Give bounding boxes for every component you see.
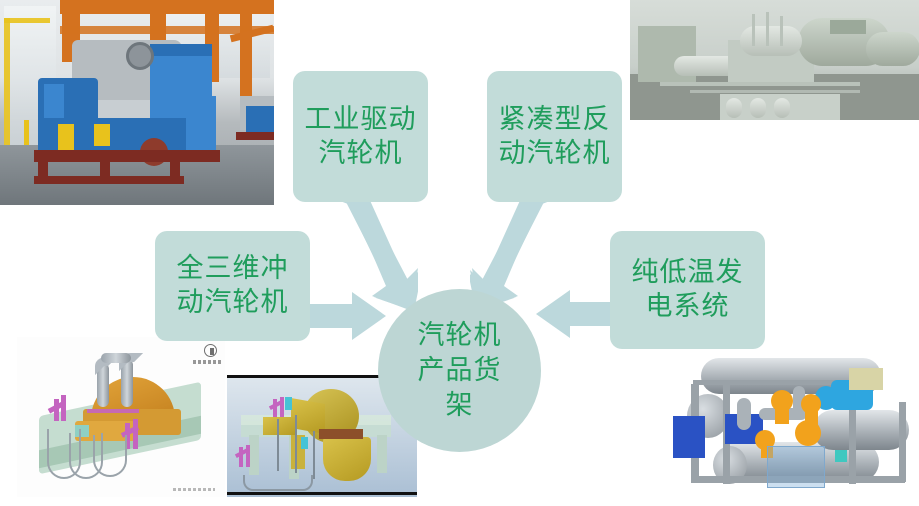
- plant-3d-render: [630, 0, 919, 120]
- cad-orange-model: [17, 337, 225, 497]
- slide-canvas: 工业驱动 汽轮机 紧凑型反 动汽轮机 全三维冲 动汽轮机 纯低温发 电系统 汽轮…: [0, 0, 919, 506]
- company-logo-icon: [204, 344, 217, 357]
- node-full-3d-impulse-turbine[interactable]: 全三维冲 动汽轮机: [155, 231, 310, 341]
- node-compact-reaction-turbine[interactable]: 紧凑型反 动汽轮机: [487, 71, 622, 202]
- node-pure-low-temp-power-system-label: 纯低温发 电系统: [632, 256, 744, 324]
- node-industrial-drive-turbine[interactable]: 工业驱动 汽轮机: [293, 71, 428, 202]
- node-pure-low-temp-power-system[interactable]: 纯低温发 电系统: [610, 231, 765, 349]
- node-industrial-drive-turbine-label: 工业驱动 汽轮机: [305, 103, 417, 171]
- node-full-3d-impulse-turbine-label: 全三维冲 动汽轮机: [177, 252, 289, 320]
- node-compact-reaction-turbine-label: 紧凑型反 动汽轮机: [499, 103, 611, 171]
- node-center-product-shelf[interactable]: 汽轮机 产品货 架: [378, 289, 541, 452]
- node-center-label: 汽轮机 产品货 架: [418, 318, 502, 423]
- factory-turbine-photo: [0, 0, 274, 205]
- cad-skid-model: [663, 350, 913, 500]
- arrow-from-full-3d-impulse: [300, 290, 386, 342]
